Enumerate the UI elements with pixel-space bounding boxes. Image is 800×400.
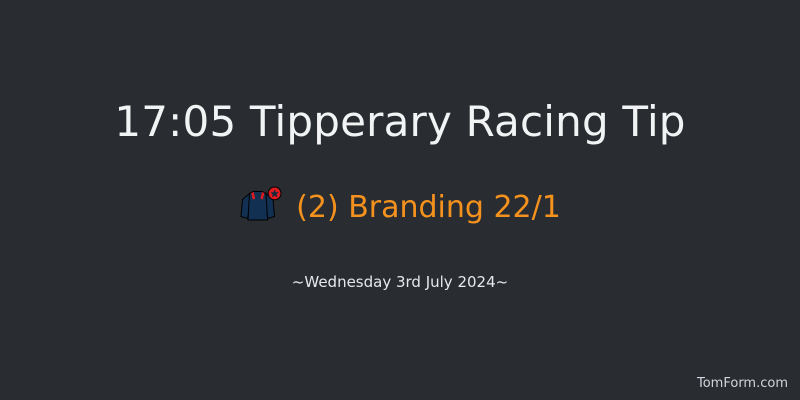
page-title: 17:05 Tipperary Racing Tip [0,96,800,148]
racing-tip-card: 17:05 Tipperary Racing Tip (2) Branding [0,0,800,400]
race-date: ~Wednesday 3rd July 2024~ [0,272,800,292]
selection-row: (2) Branding 22/1 [0,186,800,230]
racing-silks-icon [239,186,283,230]
racing-silks-icon-svg [239,186,283,230]
site-watermark: TomForm.com [697,376,788,392]
selection-label: (2) Branding 22/1 [296,189,561,227]
